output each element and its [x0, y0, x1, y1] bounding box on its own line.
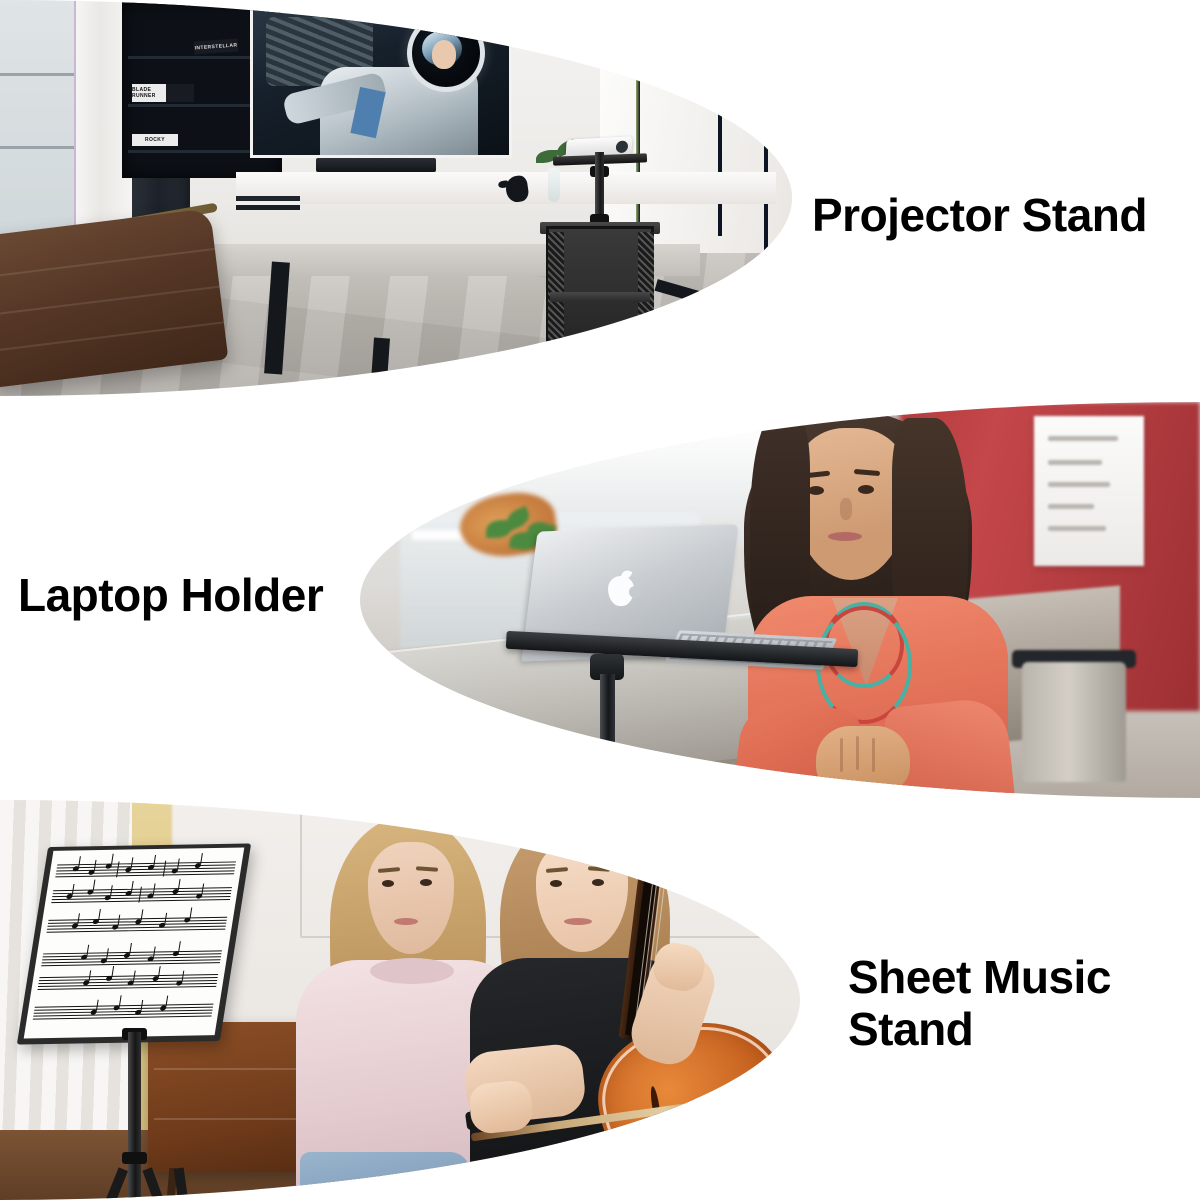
girl-bow-hand [468, 1079, 535, 1135]
cart-middle-shelf [550, 292, 650, 302]
eye [808, 486, 824, 495]
book-spine: ROCKY [132, 134, 178, 146]
poster-text-line [1048, 482, 1110, 487]
soundbar [316, 158, 436, 172]
astronaut-face [432, 40, 456, 69]
chair-seam [0, 321, 224, 352]
caster-wheel [552, 360, 565, 373]
poster-text-line [1048, 504, 1094, 509]
book-spine: INTERSTELLAR [194, 38, 239, 54]
book-spine: BLADE RUNNER [132, 84, 170, 102]
apple-logo-icon [608, 576, 634, 606]
astronaut-helmet [407, 14, 485, 92]
eye [858, 485, 874, 494]
girl-eye [550, 880, 562, 887]
girl-mouth [564, 918, 592, 925]
poster-text-line [1048, 460, 1102, 465]
mother-eye [382, 880, 394, 887]
chair-seam [0, 286, 220, 317]
panel-projector-stand: INTERSTELLAR BLADE RUNNER ROCKY [0, 0, 792, 396]
leather-chair [0, 208, 228, 388]
woman [720, 406, 1050, 798]
girl-eye [592, 879, 604, 886]
mother-mouth [394, 918, 418, 925]
stand-pole [128, 1032, 141, 1200]
panel-sheet-music-stand [0, 800, 800, 1200]
sweater-collar [370, 958, 454, 984]
caption-sheet-music-stand: Sheet Music Stand [848, 952, 1111, 1055]
book-box [166, 84, 194, 102]
scene-sheet-music-stand [0, 800, 800, 1200]
clasped-hands [816, 726, 910, 792]
panel-laptop-holder [360, 402, 1200, 798]
nose [840, 498, 852, 520]
book-stack [236, 196, 300, 210]
caption-laptop-holder: Laptop Holder [18, 570, 323, 622]
window [0, 0, 84, 261]
stand-height-clamp [122, 1152, 147, 1164]
infographic-board: INTERSTELLAR BLADE RUNNER ROCKY [0, 0, 1200, 1200]
wall-poster [1034, 416, 1144, 566]
mother-eye [420, 879, 432, 886]
poster-text-line [1048, 526, 1106, 531]
poster-text-line [1048, 436, 1118, 441]
chair-seam [0, 248, 215, 279]
mother-jeans [300, 1152, 470, 1200]
sheet-music [24, 848, 245, 1039]
mouth [828, 532, 862, 541]
scene-projector-stand: INTERSTELLAR BLADE RUNNER ROCKY [0, 0, 792, 396]
projection-screen [250, 0, 512, 158]
scene-laptop-holder [360, 402, 1200, 798]
wall-groove [718, 24, 722, 236]
caster-wheel [640, 362, 653, 375]
caption-projector-stand: Projector Stand [812, 190, 1147, 242]
vase [548, 168, 560, 202]
holder-pole [600, 674, 615, 798]
